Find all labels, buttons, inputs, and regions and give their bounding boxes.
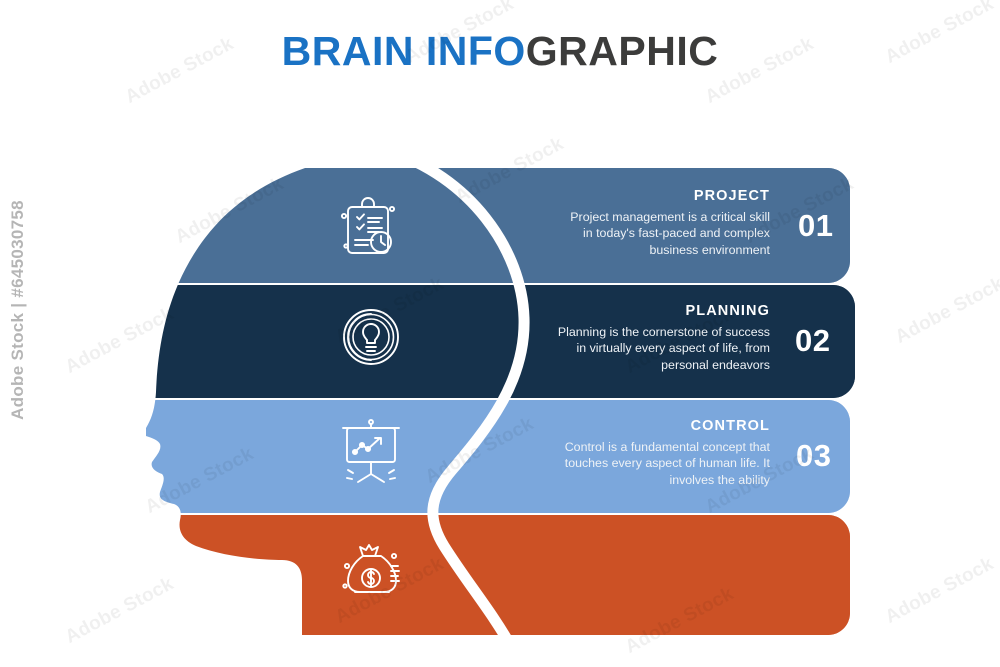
step-3-body-line-2: touches every aspect of human life. It xyxy=(500,455,770,471)
step-2-number: 02 xyxy=(795,323,830,359)
step-3-body-line-3: involves the ability xyxy=(500,472,770,488)
step-1-body-line-2: in today's fast-paced and complex xyxy=(500,225,770,241)
step-4-text-block xyxy=(500,533,770,538)
step-3-number: 03 xyxy=(796,438,831,474)
step-3-heading: CONTROL xyxy=(500,418,770,434)
step-3-body-line-1: Control is a fundamental concept that xyxy=(500,439,770,455)
step-2-body-line-1: Planning is the cornerstone of success xyxy=(500,324,770,340)
step-2-body-line-2: in virtually every aspect of life, from xyxy=(500,340,770,356)
step-3-text-block: CONTROL Control is a fundamental concept… xyxy=(500,418,770,488)
step-2-text-block: PLANNING Planning is the cornerstone of … xyxy=(500,303,770,373)
step-1-body-line-3: business environment xyxy=(500,242,770,258)
infographic-canvas: BRAIN INFOGRAPHIC xyxy=(0,0,1000,667)
step-2-body-line-3: personal endeavors xyxy=(500,357,770,373)
step-1-number: 01 xyxy=(798,208,833,244)
step-2-heading: PLANNING xyxy=(500,303,770,319)
step-1-text-block: PROJECT Project management is a critical… xyxy=(500,188,770,258)
step-1-heading: PROJECT xyxy=(500,188,770,204)
step-1-body-line-1: Project management is a critical skill xyxy=(500,209,770,225)
